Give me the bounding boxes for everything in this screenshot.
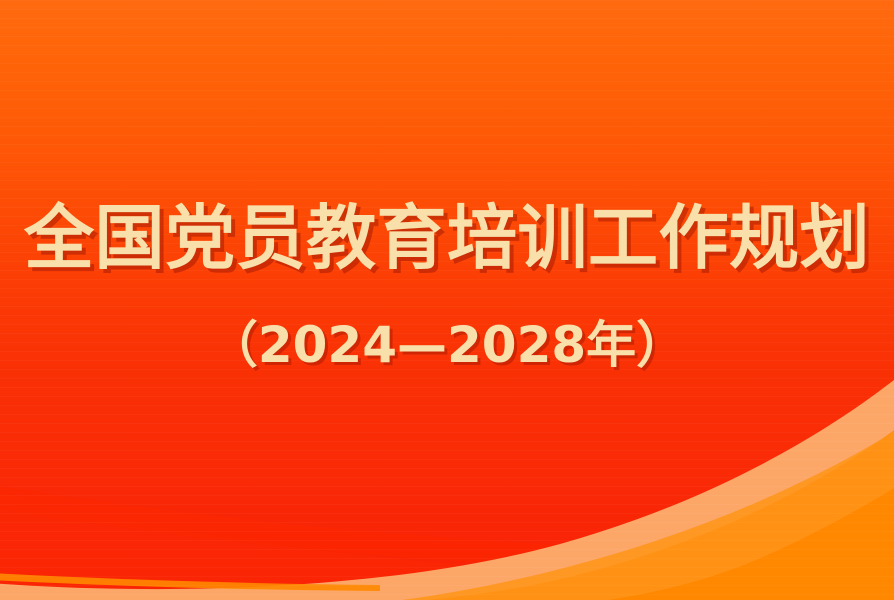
- page-subtitle-period: （2024—2028年）: [0, 314, 894, 376]
- page-title: 全国党员教育培训工作规划: [0, 196, 894, 280]
- poster-banner: 全国党员教育培训工作规划 （2024—2028年）: [0, 0, 894, 600]
- poster-text-block: 全国党员教育培训工作规划 （2024—2028年）: [0, 0, 894, 600]
